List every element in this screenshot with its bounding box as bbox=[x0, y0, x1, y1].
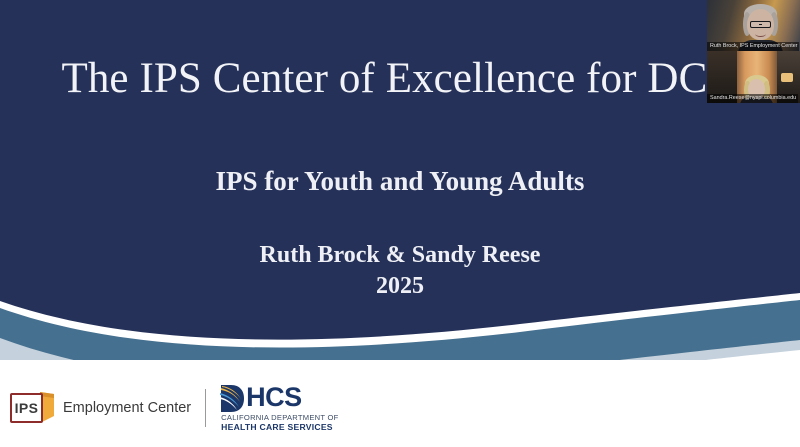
dhcs-d-icon bbox=[219, 384, 245, 413]
ips-box: IPS bbox=[10, 393, 43, 423]
dhcs-mark-text: HCS bbox=[246, 384, 338, 411]
logo-divider bbox=[205, 389, 206, 427]
video-tile-ruth-brock[interactable]: Ruth Brock, IPS Employment Center bbox=[707, 0, 800, 51]
room-lamp bbox=[781, 73, 793, 82]
dhcs-logo: HCS CALIFORNIA DEPARTMENT OF HEALTH CARE… bbox=[219, 384, 338, 433]
ips-logo-label: Employment Center bbox=[63, 400, 191, 416]
presentation-screenshare: The IPS Center of Excellence for DCH IPS… bbox=[0, 0, 800, 447]
video-tile-name-label: Sandra.Reese@nyspi.columbia.edu bbox=[707, 94, 798, 103]
slide-footer: IPS Employment Center HCS bbox=[0, 360, 800, 447]
ips-logo-icon: IPS bbox=[10, 393, 54, 423]
video-participant-panel[interactable]: Ruth Brock, IPS Employment Center Sandra… bbox=[707, 0, 800, 103]
slide-presenters: Ruth Brock & Sandy Reese bbox=[0, 240, 800, 271]
dhcs-subtitle-line1: CALIFORNIA DEPARTMENT OF bbox=[221, 413, 338, 423]
footer-logos: IPS Employment Center HCS bbox=[10, 388, 339, 428]
dhcs-text-block: HCS CALIFORNIA DEPARTMENT OF HEALTH CARE… bbox=[246, 384, 338, 433]
dhcs-subtitle-line2: HEALTH CARE SERVICES bbox=[221, 422, 338, 432]
slide-year: 2025 bbox=[0, 271, 800, 302]
participant-smile bbox=[755, 31, 766, 37]
slide-subtitle: IPS for Youth and Young Adults bbox=[0, 164, 800, 198]
video-tile-name-label: Ruth Brock, IPS Employment Center bbox=[707, 42, 799, 51]
participant-glasses-bridge bbox=[759, 24, 762, 25]
ips-mark-text: IPS bbox=[15, 400, 39, 416]
slide-title: The IPS Center of Excellence for DCH bbox=[0, 52, 800, 106]
video-tile-sandra-reese[interactable]: Sandra.Reese@nyspi.columbia.edu bbox=[707, 51, 800, 103]
